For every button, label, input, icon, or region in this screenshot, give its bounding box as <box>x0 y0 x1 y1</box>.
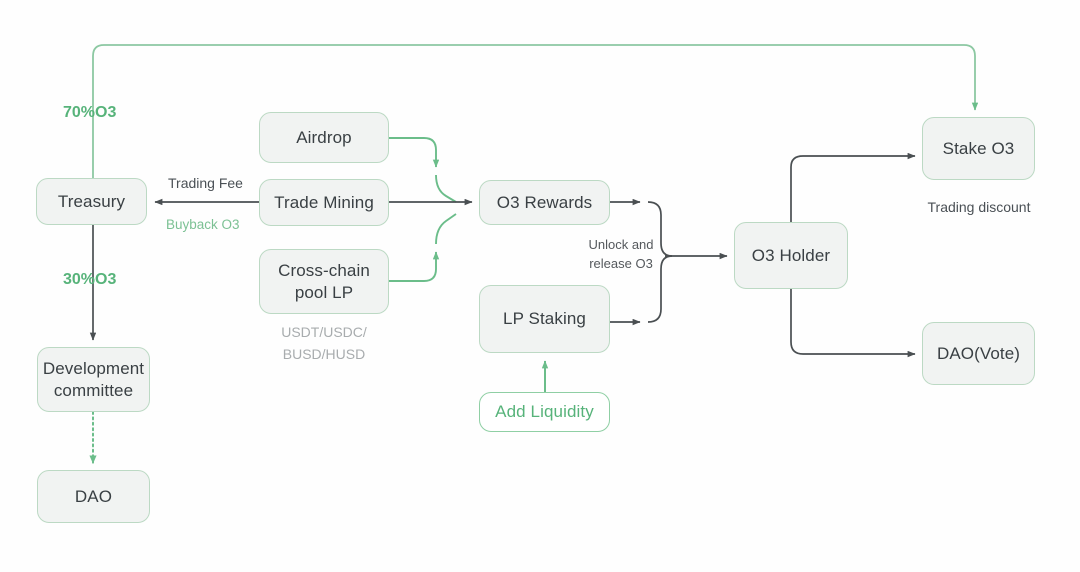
node-cross-chain-pool-lp[interactable]: Cross-chain pool LP <box>259 249 389 314</box>
node-dao[interactable]: DAO <box>37 470 150 523</box>
edge-label-trading-fee: Trading Fee <box>168 174 243 192</box>
edge-label-unlock-release-o3: Unlock and release O3 <box>578 236 664 274</box>
edge-o3-holder-to-dao-vote <box>791 289 915 354</box>
node-o3-rewards[interactable]: O3 Rewards <box>479 180 610 225</box>
edge-cross-chain-merge-tail <box>436 214 456 244</box>
edge-cross-chain-pool-lp-to-o3-rewards <box>389 252 436 281</box>
edge-label-buyback-o3: Buyback O3 <box>166 216 240 234</box>
node-add-liquidity[interactable]: Add Liquidity <box>479 392 610 432</box>
edge-label-stablecoins: USDT/USDC/ BUSD/HUSD <box>258 322 390 365</box>
edge-label-30-percent-o3: 30%O3 <box>63 270 116 291</box>
edge-airdrop-to-o3-rewards <box>389 138 436 167</box>
edge-label-trading-discount: Trading discount <box>916 198 1042 216</box>
node-o3-holder[interactable]: O3 Holder <box>734 222 848 289</box>
node-treasury[interactable]: Treasury <box>36 178 147 225</box>
node-development-committee[interactable]: Development committee <box>37 347 150 412</box>
edge-airdrop-merge-tail <box>436 175 456 202</box>
node-lp-staking[interactable]: LP Staking <box>479 285 610 353</box>
edge-treasury-to-stake-o3-loop <box>93 45 975 178</box>
edge-label-70-percent-o3: 70%O3 <box>63 103 116 124</box>
edge-o3-holder-to-stake-o3 <box>791 156 915 222</box>
node-stake-o3[interactable]: Stake O3 <box>922 117 1035 180</box>
node-trade-mining[interactable]: Trade Mining <box>259 179 389 226</box>
flow-diagram: Treasury Development committee DAO Airdr… <box>0 0 1080 572</box>
node-dao-vote[interactable]: DAO(Vote) <box>922 322 1035 385</box>
node-airdrop[interactable]: Airdrop <box>259 112 389 163</box>
